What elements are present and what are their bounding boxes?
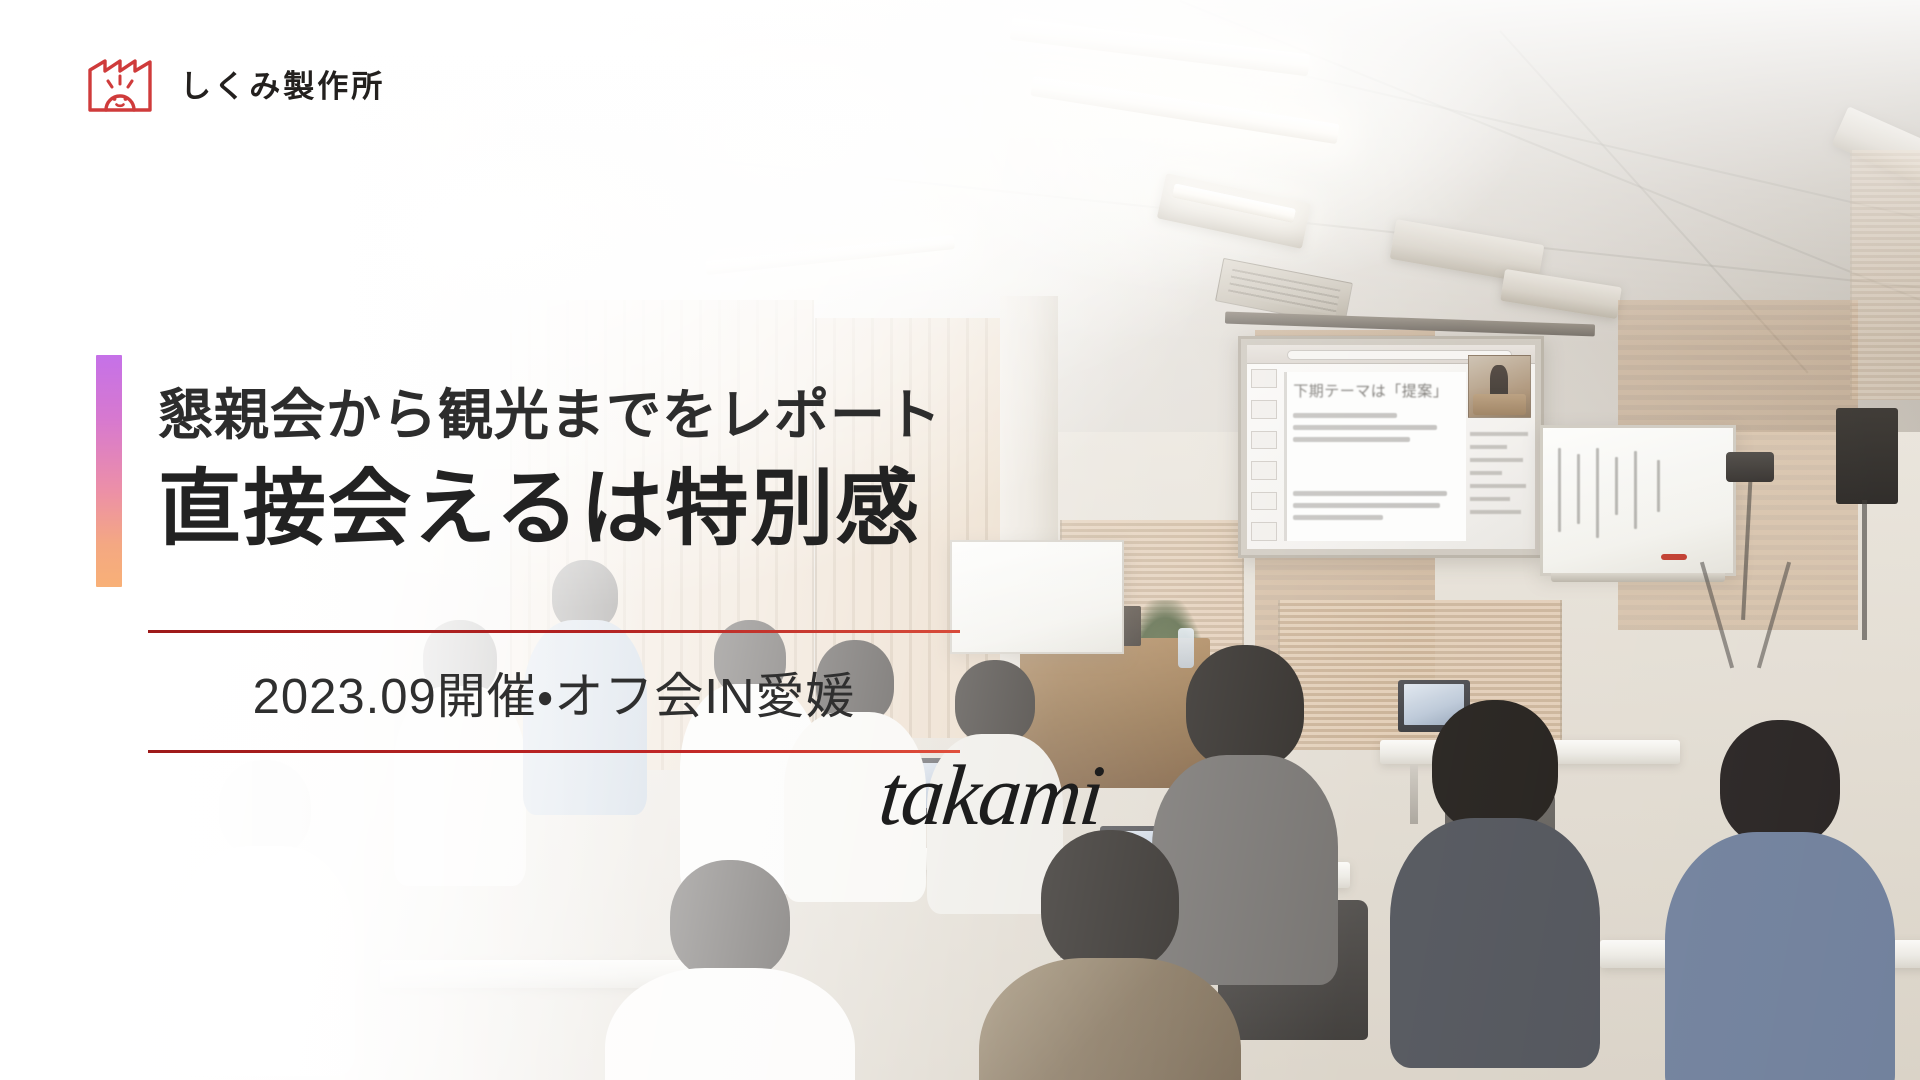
whiteboard-writing (1634, 451, 1637, 529)
speaker-box (1836, 408, 1898, 504)
audience-member (1420, 700, 1570, 1020)
audience-torso (1665, 832, 1895, 1080)
slide-thumbnail (1251, 431, 1277, 450)
slide-thumbnail (1251, 461, 1277, 480)
slide-text-line (1293, 503, 1440, 508)
slide-text-line (1293, 413, 1397, 418)
audience-member (190, 760, 340, 1050)
projector-screen: 下期テーマは「提案」 (1238, 336, 1544, 558)
whiteboard-writing (1558, 448, 1561, 532)
whiteboard-marker (1661, 554, 1687, 560)
audience-head (1432, 700, 1558, 832)
hero-banner: 下期テーマは「提案」 (0, 0, 1920, 1080)
slide-note-line (1470, 497, 1510, 501)
meta-rule-bottom (148, 750, 960, 753)
slide-speaker-video (1468, 355, 1530, 418)
slide-note-line (1470, 484, 1526, 488)
event-meta-text: 2023.09開催・オフ会IN愛媛 (148, 633, 960, 750)
slide-text-line (1293, 515, 1383, 520)
audience-member (640, 860, 820, 1080)
slide-thumbnail (1251, 400, 1277, 419)
whiteboard-writing (1657, 460, 1660, 512)
headline-lines: 懇親会から観光までをレポート 直接会えるは特別感 (158, 355, 942, 587)
slide-note-line (1470, 471, 1501, 475)
slide-thumbnail (1251, 492, 1277, 511)
page-title: 直接会えるは特別感 (158, 457, 942, 561)
slide-thumbnail (1251, 369, 1277, 388)
audience-head (219, 760, 311, 856)
audience-torso (605, 968, 855, 1080)
meta-block: 2023.09開催・オフ会IN愛媛 (148, 630, 960, 753)
author-signature: takami (875, 745, 1108, 845)
slide-note-line (1470, 458, 1523, 462)
audience-torso (1390, 818, 1600, 1068)
slide-thumbnail-rail (1251, 369, 1277, 540)
projected-slide: 下期テーマは「提案」 (1247, 345, 1535, 549)
factory-sun-icon (86, 52, 158, 114)
slide-thumbnail (1251, 522, 1277, 541)
audience-head (1041, 830, 1179, 972)
slide-text-line (1293, 425, 1437, 430)
slide-heading: 下期テーマは「提案」 (1293, 380, 1460, 401)
slide-text-line (1293, 491, 1447, 496)
audience-head (1720, 720, 1840, 846)
slide-note-line (1470, 445, 1506, 449)
window-blinds-right (1850, 150, 1920, 400)
audience-head (1186, 645, 1304, 769)
audience-head (955, 660, 1035, 744)
slide-text-line (1293, 437, 1410, 442)
whiteboard-writing (1596, 448, 1599, 538)
desk-leg (1410, 764, 1418, 824)
headline-eyebrow: 懇親会から観光までをレポート (158, 382, 942, 449)
gradient-accent-bar (96, 355, 122, 587)
slide-note-line (1470, 432, 1528, 436)
whiteboard-left (950, 540, 1124, 654)
audience-member (1700, 720, 1860, 1060)
slide-speaker-desk (1473, 394, 1526, 415)
audience-head (670, 860, 790, 980)
slide-content: 下期テーマは「提案」 (1284, 372, 1465, 541)
whiteboard (1540, 425, 1736, 576)
whiteboard-writing (1577, 454, 1580, 524)
speaker-stand (1862, 500, 1867, 640)
audience-torso (175, 846, 355, 1076)
slide-note-line (1470, 510, 1521, 514)
headline-block: 懇親会から観光までをレポート 直接会えるは特別感 (96, 355, 942, 587)
whiteboard-writing (1615, 457, 1618, 515)
brand-name: しくみ製作所 (180, 61, 385, 106)
slide-notes-panel (1470, 423, 1530, 541)
camera-body (1726, 452, 1774, 482)
whiteboard-tray (1551, 573, 1726, 582)
brand-logo[interactable]: しくみ製作所 (86, 52, 385, 114)
audience-member (1020, 830, 1200, 1080)
